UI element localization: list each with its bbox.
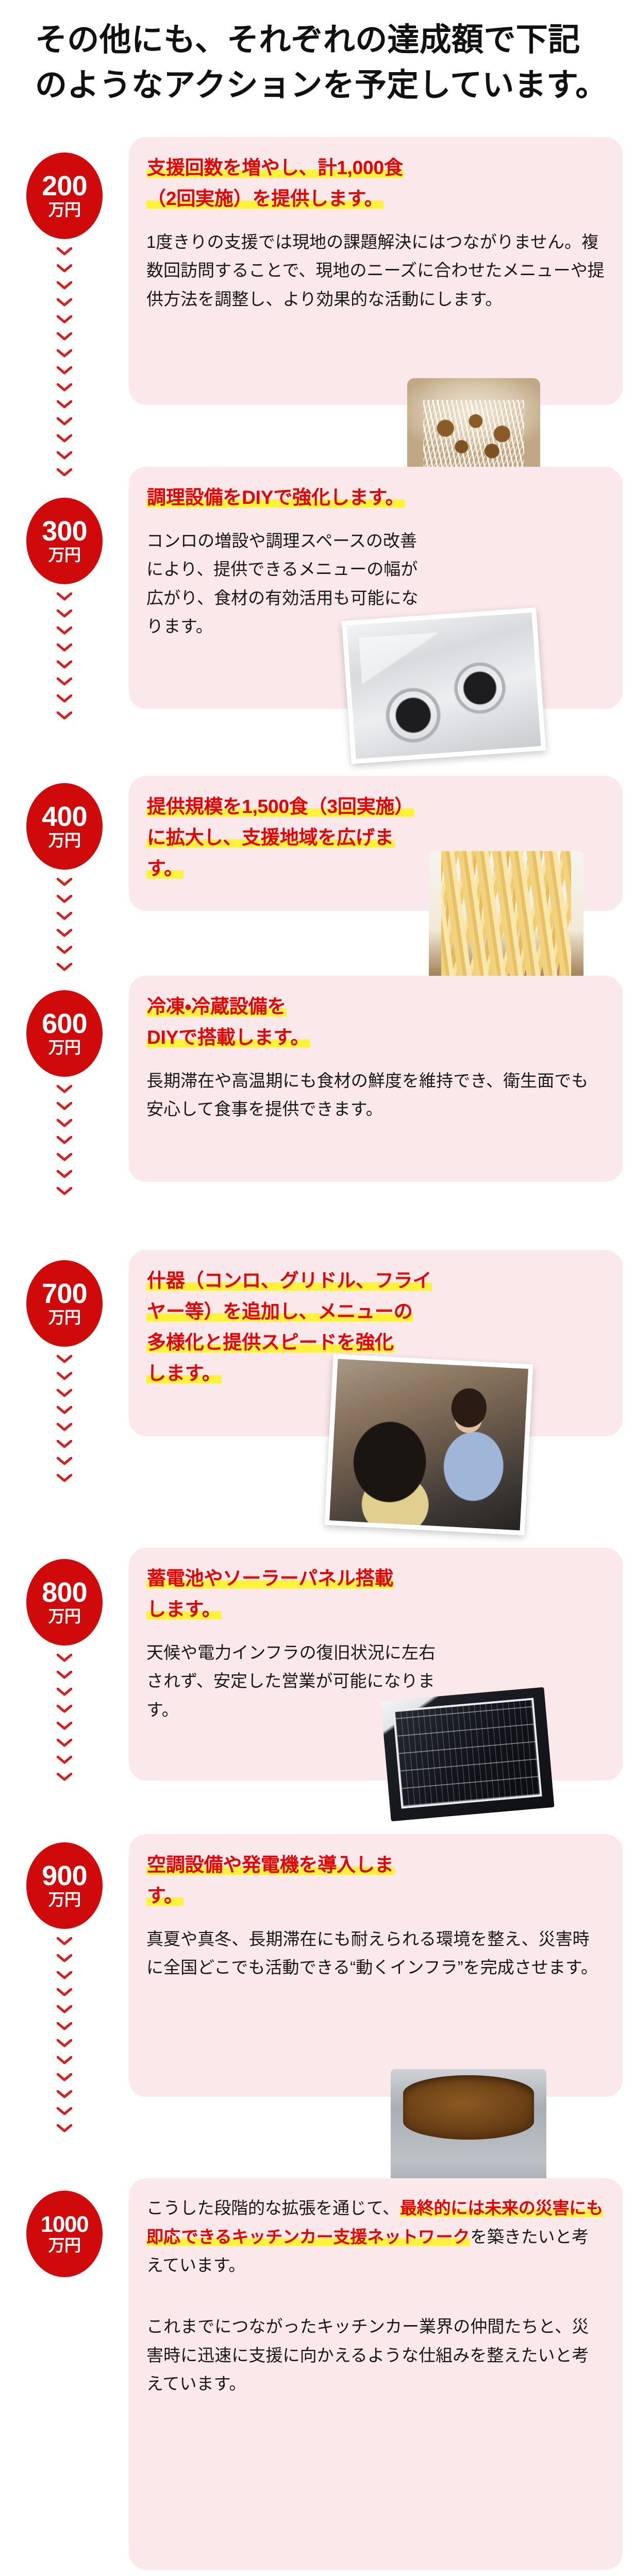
intro-line-2: のようなアクションを予定しています。 bbox=[35, 63, 599, 108]
chevron-down-icon bbox=[57, 1440, 72, 1448]
headline-line: 提供規模を1,500食（3回実施） bbox=[146, 796, 414, 817]
chevron-down-icon bbox=[57, 298, 72, 307]
chevron-down-icon bbox=[57, 2090, 72, 2098]
milestone-stage-600: 600 万円 冷凍・冷蔵設備を DIYで搭載します。 bbox=[0, 976, 634, 1182]
chevron-down-icon bbox=[57, 660, 72, 669]
rail-300: 300 万円 bbox=[0, 498, 129, 720]
headline-line: 支援回数を増やし、計1,000食 bbox=[146, 157, 404, 178]
chevron-down-icon bbox=[57, 400, 72, 409]
chevron-down-icon bbox=[57, 2022, 72, 2030]
chevron-down-icon bbox=[57, 451, 72, 460]
milestone-headline-900: 空調設備や発電機を導入しま す。 bbox=[146, 1850, 605, 1911]
rail-600: 600 万円 bbox=[0, 990, 129, 1195]
amount-badge-700: 700 万円 bbox=[26, 1260, 103, 1347]
chevron-down-icon bbox=[57, 1722, 72, 1730]
amount-badge-900: 900 万円 bbox=[26, 1842, 103, 1929]
chevron-down-icon bbox=[57, 1457, 72, 1465]
milestone-stage-900: 900 万円 bbox=[0, 1834, 634, 2097]
intro-heading: その他にも、それぞれの達成額で下記 のようなアクションを予定しています。 bbox=[0, 0, 634, 108]
badge-unit: 万円 bbox=[48, 1608, 81, 1624]
chevron-down-icon bbox=[57, 417, 72, 426]
chevron-group bbox=[57, 878, 72, 971]
chevron-down-icon bbox=[57, 1474, 72, 1482]
rail-900: 900 万円 bbox=[0, 1842, 129, 2132]
chevron-down-icon bbox=[57, 2056, 72, 2064]
headline-line: 多様化と提供スピードを強化 bbox=[146, 1332, 394, 1353]
headline-line: 冷凍・冷蔵設備を bbox=[146, 996, 287, 1017]
amount-badge-400: 400 万円 bbox=[26, 783, 103, 870]
chevron-down-icon bbox=[57, 1705, 72, 1713]
chevron-down-icon bbox=[57, 1971, 72, 1979]
solar-panel-photo bbox=[380, 1687, 554, 1822]
badge-amount: 600 bbox=[42, 1011, 87, 1037]
chevron-down-icon bbox=[57, 2124, 72, 2132]
chevron-down-icon bbox=[57, 929, 72, 937]
badge-amount: 200 bbox=[42, 174, 87, 199]
chevron-down-icon bbox=[57, 434, 72, 443]
chevron-down-icon bbox=[57, 643, 72, 652]
headline-line: 空調設備や発電機を導入しま bbox=[146, 1854, 394, 1875]
badge-unit: 万円 bbox=[48, 2237, 81, 2253]
chevron-down-icon bbox=[57, 1170, 72, 1178]
badge-amount: 400 bbox=[42, 804, 87, 830]
amount-badge-300: 300 万円 bbox=[26, 498, 103, 584]
rail-400: 400 万円 bbox=[0, 783, 129, 971]
amount-badge-1000: 1000 万円 bbox=[26, 2191, 103, 2277]
milestone-body-600: 長期滞在や高温期にも食材の鮮度を維持でき、衛生面でも安心して食事を提供できます。 bbox=[146, 1066, 605, 1124]
chevron-down-icon bbox=[57, 315, 72, 324]
headline-line: します。 bbox=[146, 1599, 222, 1620]
badge-unit: 万円 bbox=[48, 1309, 81, 1326]
chevron-down-icon bbox=[57, 1085, 72, 1093]
chevron-down-icon bbox=[57, 592, 72, 601]
chevron-down-icon bbox=[57, 878, 72, 886]
headline-line: に拡大し、支援地域を広げま bbox=[146, 827, 394, 848]
chevron-down-icon bbox=[57, 383, 72, 392]
chevron-down-icon bbox=[57, 332, 72, 341]
chevron-down-icon bbox=[57, 677, 72, 686]
milestone-card-200: 支援回数を増やし、計1,000食 （2回実施）を提供します。 1度きりの支援では… bbox=[129, 137, 623, 405]
chevron-down-icon bbox=[57, 349, 72, 358]
rail-700: 700 万円 bbox=[0, 1260, 129, 1482]
chevron-down-icon bbox=[57, 1954, 72, 1962]
chevron-down-icon bbox=[57, 2073, 72, 2081]
headline-line: DIYで搭載します。 bbox=[146, 1027, 310, 1048]
chevron-down-icon bbox=[57, 711, 72, 720]
headline-line: 調理設備をDIYで強化します。 bbox=[146, 487, 405, 508]
milestone-stage-800: 800 万円 蓄電池やソーラーパネル搭載 します。 bbox=[0, 1548, 634, 1781]
chevron-down-icon bbox=[57, 1756, 72, 1764]
badge-unit: 万円 bbox=[48, 832, 81, 849]
rail-1000: 1000 万円 bbox=[0, 2191, 129, 2277]
chevron-group bbox=[57, 1085, 72, 1195]
chevron-down-icon bbox=[57, 1937, 72, 1945]
chevron-down-icon bbox=[57, 1119, 72, 1127]
chevron-group bbox=[57, 1654, 72, 1781]
badge-unit: 万円 bbox=[48, 1039, 81, 1056]
chevron-down-icon bbox=[57, 895, 72, 903]
badge-amount: 700 bbox=[42, 1281, 87, 1307]
chevron-group bbox=[57, 247, 72, 477]
chevron-down-icon bbox=[57, 1406, 72, 1414]
headline-line: ーク bbox=[436, 2227, 471, 2246]
chevron-down-icon bbox=[57, 963, 72, 971]
milestone-card-1000: こうした段階的な拡張を通じて、最終的には未来の災害にも即応できるキッチンカー支援… bbox=[129, 2178, 623, 2570]
badge-unit: 万円 bbox=[48, 1891, 81, 1908]
milestone-headline-200: 支援回数を増やし、計1,000食 （2回実施）を提供します。 bbox=[146, 152, 605, 214]
headline-line: できるキッチンカー支援ネットワ bbox=[181, 2227, 436, 2246]
chevron-down-icon bbox=[57, 264, 72, 273]
chevron-down-icon bbox=[57, 247, 72, 256]
headline-line: 蓄電池やソーラーパネル搭載 bbox=[146, 1568, 394, 1589]
milestone-headline-600: 冷凍・冷蔵設備を DIYで搭載します。 bbox=[146, 991, 605, 1053]
milestone-timeline: 200 万円 bbox=[0, 137, 634, 2576]
chevron-down-icon bbox=[57, 694, 72, 703]
milestone-headline-300: 調理設備をDIYで強化します。 bbox=[146, 482, 605, 513]
amount-badge-600: 600 万円 bbox=[26, 990, 103, 1077]
chevron-down-icon bbox=[57, 2039, 72, 2047]
milestone-stage-300: 300 万円 調理設備をDIYで強化します。 コ bbox=[0, 467, 634, 709]
chevron-group bbox=[57, 1937, 72, 2132]
chevron-down-icon bbox=[57, 1153, 72, 1161]
chevron-down-icon bbox=[57, 1136, 72, 1144]
staff-serving-customer-photo bbox=[325, 1354, 533, 1535]
chevron-down-icon bbox=[57, 1372, 72, 1380]
milestone-page: その他にも、それぞれの達成額で下記 のようなアクションを予定しています。 200… bbox=[0, 0, 634, 2576]
milestone-stage-700: 700 万円 什器（コンロ、グリドル、フライ ヤー等）を追加し bbox=[0, 1250, 634, 1436]
chevron-down-icon bbox=[57, 2107, 72, 2115]
chevron-down-icon bbox=[57, 1739, 72, 1747]
chevron-down-icon bbox=[57, 1988, 72, 1996]
chevron-down-icon bbox=[57, 1423, 72, 1431]
chevron-group bbox=[57, 1355, 72, 1482]
chevron-down-icon bbox=[57, 1355, 72, 1363]
badge-unit: 万円 bbox=[48, 201, 81, 218]
milestone-body-900: 真夏や真冬、長期滞在にも耐えられる環境を整え、災害時に全国どこでも活動できる“動… bbox=[146, 1925, 605, 1982]
headline-line: 什器（コンロ、グリドル、フライ bbox=[146, 1270, 432, 1291]
chevron-down-icon bbox=[57, 1187, 72, 1195]
milestone-body-1000: これまでにつながったキッチンカー業界の仲間たちと、災害時に迅速に支援に向かえるよ… bbox=[146, 2312, 605, 2398]
headline-line: ヤー等）を追加し、メニューの bbox=[146, 1301, 413, 1322]
headline-line: （2回実施）を提供します。 bbox=[146, 188, 383, 209]
milestone-card-600: 冷凍・冷蔵設備を DIYで搭載します。 長期滞在や高温期にも食材の鮮度を維持でき… bbox=[129, 976, 623, 1182]
badge-amount: 900 bbox=[42, 1863, 87, 1889]
badge-unit: 万円 bbox=[48, 547, 81, 563]
chevron-down-icon bbox=[57, 281, 72, 290]
chevron-down-icon bbox=[57, 946, 72, 954]
gas-stove-photo bbox=[342, 607, 546, 764]
chevron-down-icon bbox=[57, 2005, 72, 2013]
milestone-stage-400: 400 万円 提供規模を1,500食（3回実施） に拡大し、支援地域を広げま す… bbox=[0, 776, 634, 911]
milestone-headline-1000: こうした段階的な拡張を通じて、最終的には未来の災害にも即応できるキッチンカー支援… bbox=[146, 2194, 605, 2279]
milestone-stage-1000: 1000 万円 こうした段階的な拡張を通じて、最終的には未来の災害にも即応できる… bbox=[0, 2178, 634, 2570]
milestone-card-900: 空調設備や発電機を導入しま す。 真夏や真冬、長期滞在にも耐えられる環境を整え、… bbox=[129, 1834, 623, 2097]
chevron-down-icon bbox=[57, 1389, 72, 1397]
milestone-headline-800: 蓄電池やソーラーパネル搭載 します。 bbox=[146, 1563, 605, 1625]
rail-200: 200 万円 bbox=[0, 152, 129, 477]
amount-badge-800: 800 万円 bbox=[26, 1559, 103, 1646]
headline-line: す。 bbox=[146, 858, 183, 879]
badge-amount: 1000 bbox=[41, 2214, 89, 2235]
intro-line-1: その他にも、それぞれの達成額で下記 bbox=[35, 18, 599, 63]
badge-amount: 300 bbox=[42, 519, 87, 545]
chevron-down-icon bbox=[57, 1102, 72, 1110]
chevron-down-icon bbox=[57, 626, 72, 635]
headline-prefix: こうした段階的な拡張を通じて、 bbox=[146, 2198, 399, 2217]
badge-amount: 800 bbox=[42, 1580, 87, 1606]
amount-badge-200: 200 万円 bbox=[26, 152, 103, 239]
rail-800: 800 万円 bbox=[0, 1559, 129, 1781]
chevron-down-icon bbox=[57, 1688, 72, 1696]
chevron-down-icon bbox=[57, 1671, 72, 1679]
chevron-group bbox=[57, 592, 72, 720]
milestone-body-200: 1度きりの支援では現地の課題解決にはつながりません。複数回訪問することで、現地の… bbox=[146, 228, 605, 313]
chevron-down-icon bbox=[57, 1773, 72, 1781]
milestone-stage-200: 200 万円 bbox=[0, 137, 634, 405]
chevron-down-icon bbox=[57, 912, 72, 920]
headline-line: す。 bbox=[146, 1885, 183, 1906]
chevron-down-icon bbox=[57, 366, 72, 375]
chevron-down-icon bbox=[57, 1654, 72, 1662]
chevron-down-icon bbox=[57, 609, 72, 618]
headline-line: します。 bbox=[146, 1363, 222, 1384]
